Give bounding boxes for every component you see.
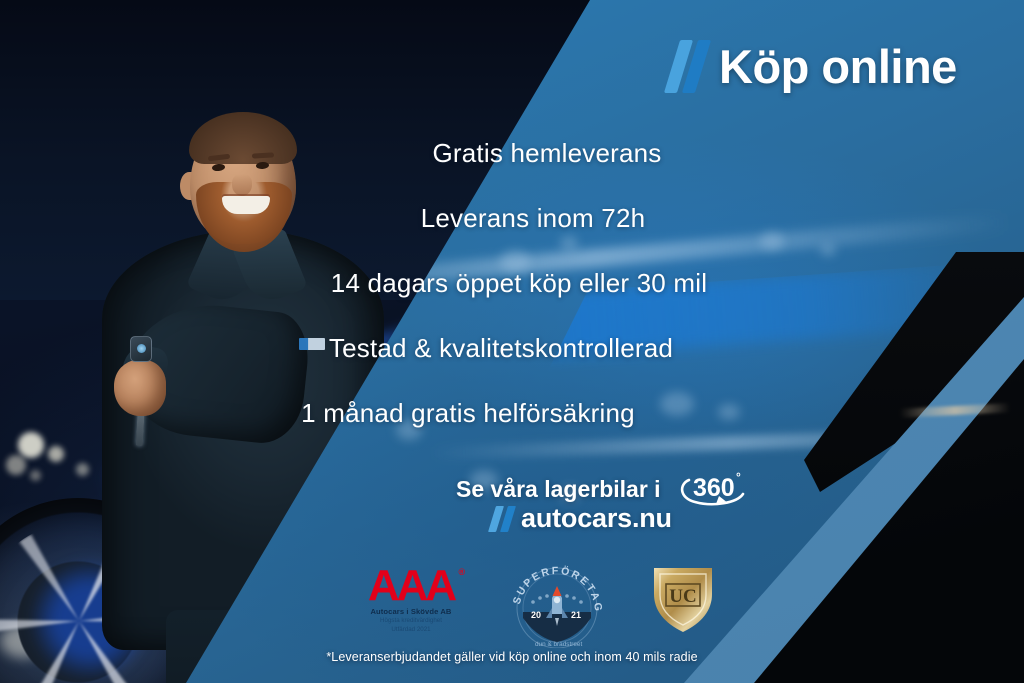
benefit-item: Leverans inom 72h bbox=[421, 205, 646, 231]
double-slash-icon bbox=[672, 40, 703, 93]
registered-trademark-icon: ® bbox=[459, 568, 466, 576]
uc-certificate-logo: UC bbox=[644, 560, 722, 634]
benefit-item: Testad & kvalitetskontrollerad bbox=[329, 335, 673, 361]
page-title: Köp online bbox=[719, 43, 957, 90]
aaa-credit-rating-logo: AAA ® Autocars i Skövde AB Högsta kredit… bbox=[352, 560, 470, 635]
superforetag-badge-logo: SUPERFÖRETAG bbox=[505, 560, 609, 648]
promo-content: Köp online Gratis hemleverans Leverans i… bbox=[0, 0, 1024, 683]
uc-mark: UC bbox=[669, 586, 696, 607]
website-url: autocars.nu bbox=[521, 503, 672, 534]
aaa-subtitle-line2: Utfärdad 2021 bbox=[352, 626, 470, 635]
promo-banner: Köp online Gratis hemleverans Leverans i… bbox=[0, 0, 1024, 683]
benefits-list: Gratis hemleverans Leverans inom 72h 14 … bbox=[0, 140, 1024, 426]
aaa-mark: AAA ® bbox=[368, 566, 454, 606]
benefit-item: 14 dagars öppet köp eller 30 mil bbox=[331, 270, 707, 296]
aaa-letters: AAA bbox=[368, 561, 454, 610]
aaa-subtitle: Högsta kreditvärdighet Utfärdad 2021 bbox=[352, 617, 470, 634]
benefit-item: 1 månad gratis helförsäkring bbox=[301, 400, 635, 426]
benefit-item: Gratis hemleverans bbox=[432, 140, 661, 166]
disclaimer-text: *Leveranserbjudandet gäller vid köp onli… bbox=[0, 650, 1024, 664]
website-link[interactable]: autocars.nu bbox=[492, 503, 672, 534]
superforetag-year-left: 20 bbox=[531, 610, 541, 620]
headline-row: Köp online bbox=[672, 40, 957, 93]
superforetag-source: dun & bradstreet bbox=[535, 641, 582, 648]
double-slash-icon-small bbox=[492, 506, 512, 532]
degree-symbol: ° bbox=[736, 470, 741, 484]
rotate-360-number: 360 bbox=[693, 474, 735, 502]
aaa-subtitle-line1: Högsta kreditvärdighet bbox=[352, 617, 470, 626]
superforetag-year-right: 21 bbox=[571, 610, 581, 620]
rotate-360-icon: 360 ° bbox=[673, 468, 749, 510]
certification-logos: AAA ® Autocars i Skövde AB Högsta kredit… bbox=[352, 560, 722, 648]
view-360-label: Se våra lagerbilar i bbox=[456, 476, 661, 503]
